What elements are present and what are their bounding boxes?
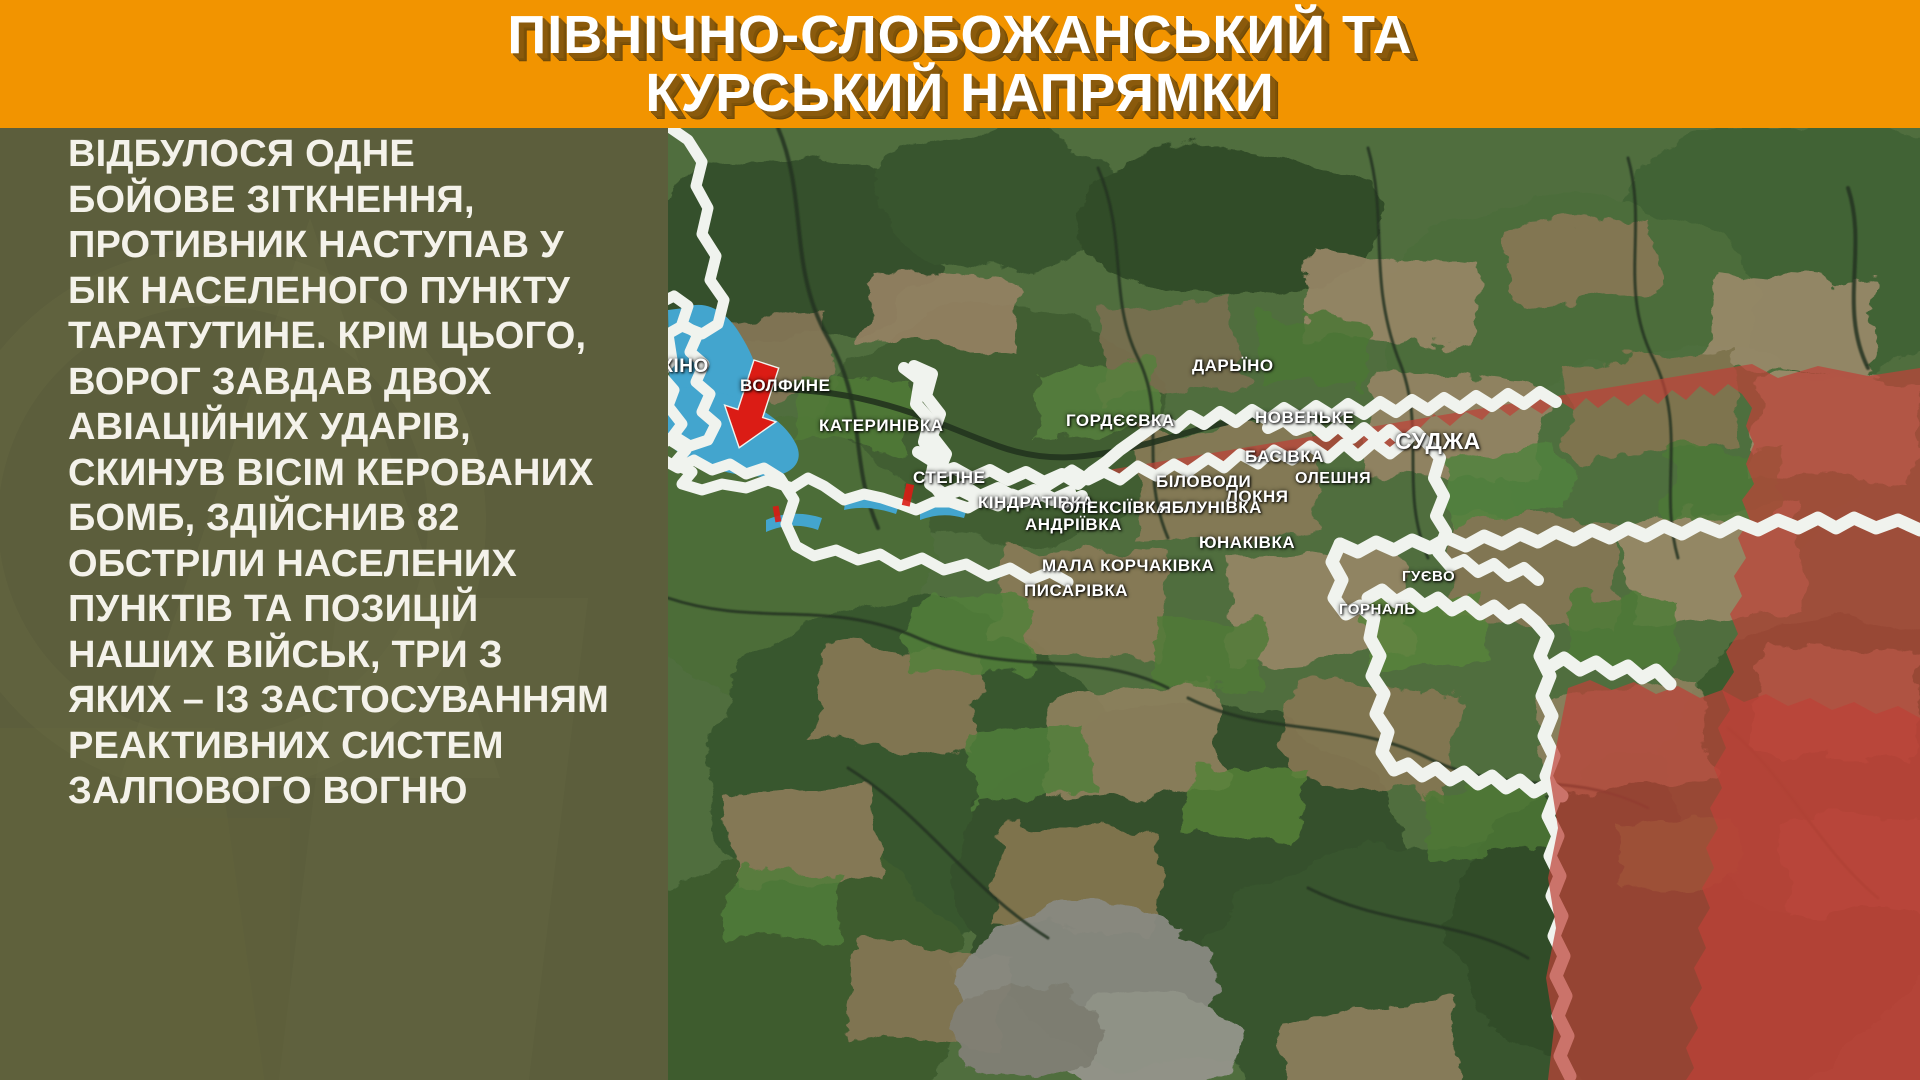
header-bar: ПІВНІЧНО-СЛОБОЖАНСЬКИЙ ТА КУРСЬКИЙ НАПРЯ… — [0, 0, 1920, 128]
summary-text: ВІДБУЛОСЯ ОДНЕ БОЙОВЕ ЗІТКНЕННЯ, ПРОТИВН… — [68, 132, 628, 815]
infographic-slide: ПІВНІЧНО-СЛОБОЖАНСЬКИЙ ТА КУРСЬКИЙ НАПРЯ… — [0, 0, 1920, 1080]
satellite-map-graphic — [668, 128, 1920, 1080]
watermark-bar-icon — [170, 818, 290, 1080]
page-title: ПІВНІЧНО-СЛОБОЖАНСЬКИЙ ТА КУРСЬКИЙ НАПРЯ… — [0, 6, 1920, 122]
summary-panel: ВІДБУЛОСЯ ОДНЕ БОЙОВЕ ЗІТКНЕННЯ, ПРОТИВН… — [0, 128, 668, 1080]
map-area[interactable]: ТЬОТКІНО ВОЛФИНЕ КАТЕРИНІВКА ДАРЬЇНО ГОР… — [668, 128, 1920, 1080]
